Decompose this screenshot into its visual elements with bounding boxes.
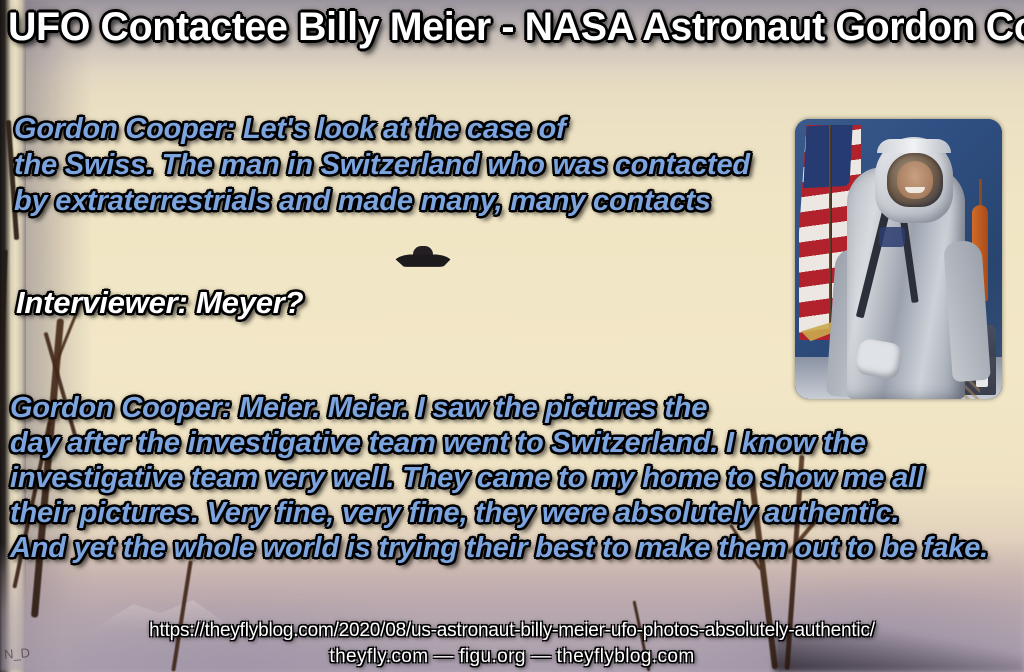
footer-source-url[interactable]: https://theyflyblog.com/2020/08/us-astro… xyxy=(0,620,1024,642)
quote-gordon-cooper-2: Gordon Cooper: Meier. Meier. I saw the p… xyxy=(10,391,1020,566)
watermark: N_D xyxy=(4,645,31,662)
spacesuit-patch xyxy=(879,227,905,247)
meme-image: UFO Contactee Billy Meier - NASA Astrona… xyxy=(0,0,1024,672)
ufo-dome xyxy=(413,246,433,256)
quote-interviewer: Interviewer: Meyer? xyxy=(16,284,303,322)
helmet-band xyxy=(877,139,951,153)
footer-site-list[interactable]: theyfly.com — figu.org — theyflyblog.com xyxy=(0,646,1024,668)
astronaut-photo xyxy=(795,119,1002,399)
ufo-saucer-icon xyxy=(395,246,451,274)
astronaut-face xyxy=(897,161,933,199)
quote-gordon-cooper-1: Gordon Cooper: Let's look at the case of… xyxy=(14,111,814,219)
ufo-disc xyxy=(395,254,451,268)
meme-title: UFO Contactee Billy Meier - NASA Astrona… xyxy=(8,4,1005,50)
astronaut-smile xyxy=(905,187,925,193)
